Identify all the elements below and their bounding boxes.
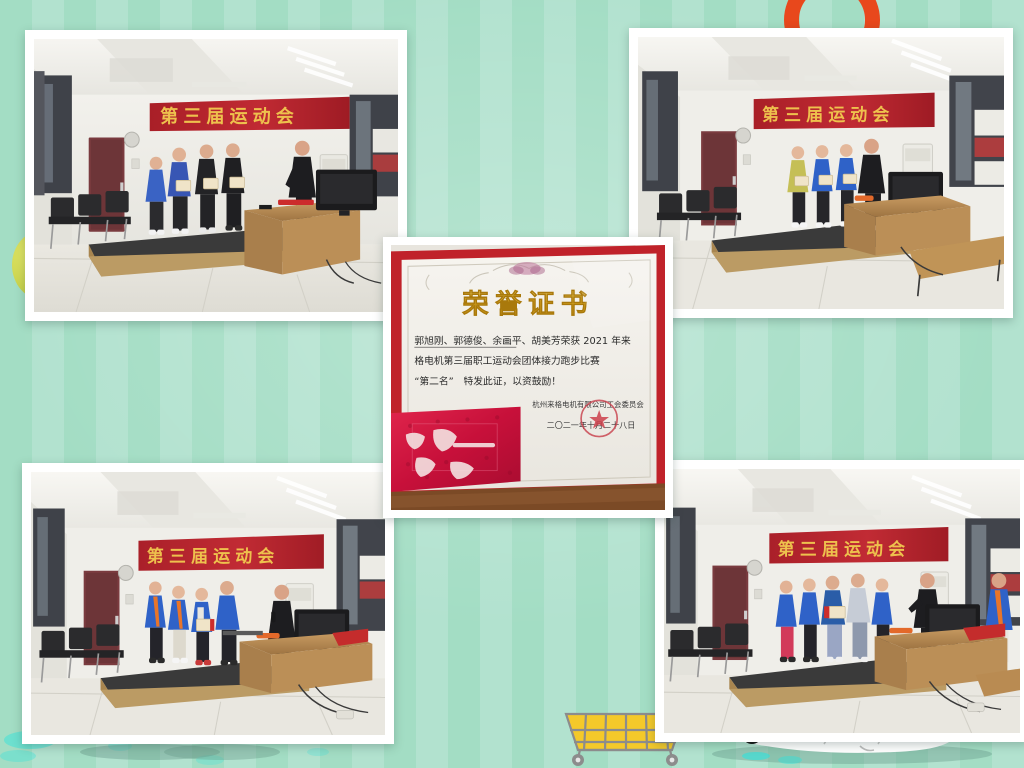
- photo-frame-top-left[interactable]: 第三届运动会: [25, 30, 407, 321]
- banner-tr: 第三届运动会: [754, 93, 935, 129]
- svg-text:第三届运动会: 第三届运动会: [147, 546, 280, 567]
- photo-image-bottom-right: 第三届运动会: [664, 469, 1020, 733]
- photo-frame-certificate[interactable]: 荣誉证书 郭旭刚、郭德俊、余画平、胡美芳荣获 2021 年来 格电机第三届职工运…: [383, 237, 673, 518]
- photo-image-bottom-left: 第三届运动会: [31, 472, 385, 735]
- certificate-line-2: 格电机第三届职工运动会团体接力跑步比赛: [414, 354, 600, 367]
- svg-text:第三届运动会: 第三届运动会: [762, 104, 894, 125]
- certificate-line-3: “第二名” 特发此证，以资鼓励！: [414, 374, 561, 387]
- svg-text:第三届运动会: 第三届运动会: [160, 105, 299, 127]
- photo-image-top-left: 第三届运动会: [34, 39, 398, 312]
- red-plaque: [391, 407, 521, 492]
- meeting-room-scene-br: 第三届运动会: [664, 469, 1020, 733]
- certificate-line-1: 郭旭刚、郭德俊、余画平、胡美芳荣获 2021 年来: [414, 334, 631, 347]
- photo-image-certificate: 荣誉证书 郭旭刚、郭德俊、余画平、胡美芳荣获 2021 年来 格电机第三届职工运…: [391, 245, 665, 510]
- photo-frame-bottom-right[interactable]: 第三届运动会: [655, 460, 1024, 742]
- photo-image-top-right: 第三届运动会: [638, 37, 1004, 309]
- meeting-room-scene-tl: 第三届运动会: [34, 39, 398, 312]
- photo-frame-top-right[interactable]: 第三届运动会: [629, 28, 1013, 318]
- meeting-room-scene-tr: 第三届运动会: [638, 37, 1004, 309]
- photo-frame-bottom-left[interactable]: 第三届运动会: [22, 463, 394, 744]
- svg-text:第三届运动会: 第三届运动会: [778, 539, 911, 560]
- certificate-title: 荣誉证书: [462, 289, 594, 320]
- certificate-date: 二〇二一年十月二十八日: [547, 420, 636, 430]
- meeting-room-scene-bl: 第三届运动会: [31, 472, 385, 735]
- honor-certificate-scene: 荣誉证书 郭旭刚、郭德俊、余画平、胡美芳荣获 2021 年来 格电机第三届职工运…: [391, 245, 665, 510]
